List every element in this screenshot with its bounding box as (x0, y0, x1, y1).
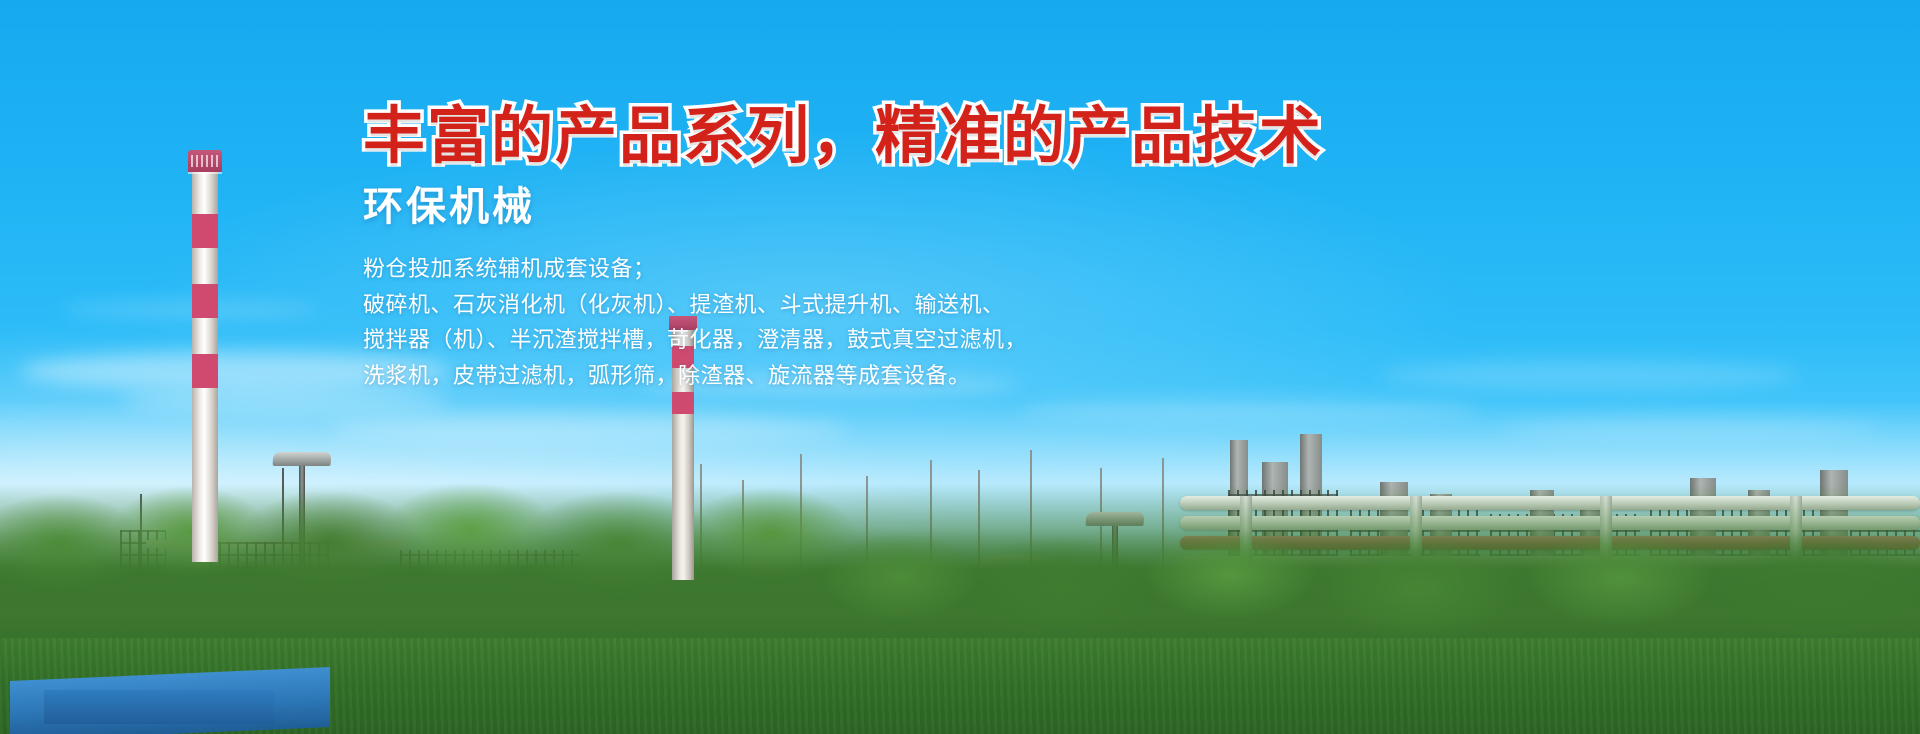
body-line: 粉仓投加系统辅机成套设备； (363, 251, 1323, 287)
banner-headline: 丰富的产品系列，精准的产品技术 (363, 104, 1323, 169)
body-line: 搅拌器（机）、半沉渣搅拌槽，苛化器，澄清器，鼓式真空过滤机， (363, 322, 1323, 358)
cloud (60, 300, 320, 320)
smokestack-band (192, 354, 218, 388)
smokestack-band (192, 214, 218, 248)
banner-body: 粉仓投加系统辅机成套设备； 破碎机、石灰消化机（化灰机）、提渣机、斗式提升机、输… (363, 251, 1323, 394)
smokestack-cap (188, 150, 222, 172)
body-line: 破碎机、石灰消化机（化灰机）、提渣机、斗式提升机、输送机、 (363, 287, 1323, 323)
banner-subhead: 环保机械 (363, 185, 1323, 229)
hero-banner: 中国石油化工股份 爱护职工利益 争取职工收入最大化 丰富的产品系列，精准的产品技… (0, 0, 1920, 734)
banner-copy: 丰富的产品系列，精准的产品技术 环保机械 粉仓投加系统辅机成套设备； 破碎机、石… (363, 104, 1323, 394)
blue-roof-ridge (44, 690, 274, 724)
smokestack-primary (192, 172, 218, 562)
body-line: 洗浆机，皮带过滤机，弧形筛，除渣器、旋流器等成套设备。 (363, 358, 1323, 394)
smokestack-band (192, 284, 218, 318)
